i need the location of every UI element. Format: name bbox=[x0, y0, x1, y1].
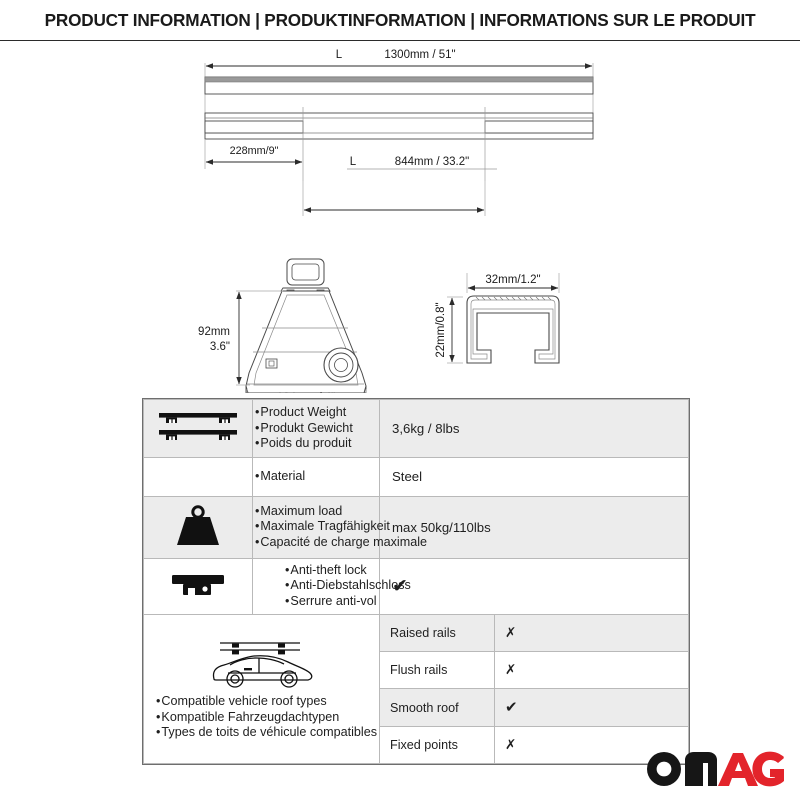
crossbar-plan-view bbox=[205, 107, 593, 181]
roof-option-mark-cell: ✗ bbox=[495, 615, 689, 652]
omac-logo-mark bbox=[644, 748, 786, 790]
roof-option-name: Raised rails bbox=[380, 615, 495, 652]
material-labels: Material bbox=[253, 458, 380, 497]
label-fr: Serrure anti-vol bbox=[285, 594, 379, 610]
span-length-value: 844mm / 33.2" bbox=[395, 156, 469, 168]
roof-option-mark: ✗ bbox=[505, 662, 516, 677]
foot-height-mm-value: 92mm bbox=[198, 326, 230, 338]
roof-option-row: Flush rails ✗ bbox=[380, 651, 688, 688]
profile-width-value: 32mm/1.2" bbox=[485, 274, 540, 286]
roof-option-row: Smooth roof ✔ bbox=[380, 689, 688, 726]
anti-theft-lock-value-cell: ✔ bbox=[380, 558, 689, 614]
label-de: Maximale Tragfähigkeit bbox=[255, 519, 379, 535]
technical-drawings: L 1300mm / 51" 228mm/9" L 844mm / 33.2" … bbox=[0, 41, 800, 393]
table-row-product-weight: Product Weight Produkt Gewicht Poids du … bbox=[144, 400, 689, 458]
roof-option-mark: ✔ bbox=[505, 699, 518, 716]
label-de: Kompatible Fahrzeugdachtypen bbox=[156, 710, 379, 726]
anti-theft-lock-checkmark: ✔ bbox=[392, 576, 408, 597]
label-fr: Capacité de charge maximale bbox=[255, 535, 379, 551]
maximum-load-labels: Maximum load Maximale Tragfähigkeit Capa… bbox=[253, 496, 380, 558]
lock-icon bbox=[166, 565, 230, 605]
profile-height-dimension bbox=[447, 297, 463, 363]
car-icon-wrap bbox=[144, 635, 379, 694]
label-de: Produkt Gewicht bbox=[255, 421, 379, 437]
material-value: Steel bbox=[392, 469, 422, 484]
page-title: PRODUCT INFORMATION | PRODUKTINFORMATION… bbox=[45, 10, 756, 31]
car-with-rack-icon bbox=[204, 635, 320, 691]
label-de: Anti-Diebstahlschloss bbox=[285, 578, 379, 594]
table-row-anti-theft-lock: Anti-theft lock Anti-Diebstahlschloss Se… bbox=[144, 558, 689, 614]
roof-option-mark: ✗ bbox=[505, 625, 516, 640]
roof-option-name: Flush rails bbox=[380, 651, 495, 688]
label-fr: Poids du produit bbox=[255, 436, 379, 452]
roof-options-table: Raised rails ✗ Flush rails ✗ bbox=[380, 615, 688, 764]
drawings-svg: L 1300mm / 51" 228mm/9" L 844mm / 33.2" … bbox=[0, 41, 800, 393]
foot-width-value: 104mm / 4" bbox=[277, 392, 335, 393]
label-en: Anti-theft lock bbox=[285, 563, 379, 579]
weight-icon-cell bbox=[144, 496, 253, 558]
page-header: PRODUCT INFORMATION | PRODUKTINFORMATION… bbox=[0, 0, 800, 41]
foot-front-view bbox=[246, 259, 366, 393]
product-weight-labels: Product Weight Produkt Gewicht Poids du … bbox=[253, 400, 380, 458]
label-fr: Types de toits de véhicule compatibles bbox=[156, 725, 379, 741]
span-dimension bbox=[303, 169, 497, 216]
table-row-maximum-load: Maximum load Maximale Tragfähigkeit Capa… bbox=[144, 496, 689, 558]
label-en: Compatible vehicle roof types bbox=[156, 694, 379, 710]
crossbar-top-view bbox=[205, 77, 593, 94]
crossbars-icon bbox=[155, 406, 241, 448]
anti-theft-lock-labels: Anti-theft lock Anti-Diebstahlschloss Se… bbox=[253, 558, 380, 614]
total-length-value: 1300mm / 51" bbox=[384, 49, 455, 61]
profile-height-value: 22mm/0.8" bbox=[435, 302, 447, 357]
roof-option-name: Fixed points bbox=[380, 726, 495, 763]
material-value-cell: Steel bbox=[380, 458, 689, 497]
product-weight-value-cell: 3,6kg / 8lbs bbox=[380, 400, 689, 458]
roof-compatibility-labels: Compatible vehicle roof types Kompatible… bbox=[144, 694, 379, 741]
specification-table: Product Weight Produkt Gewicht Poids du … bbox=[142, 398, 690, 765]
product-information-page: PRODUCT INFORMATION | PRODUKTINFORMATION… bbox=[0, 0, 800, 800]
table-row-material: Material Steel bbox=[144, 458, 689, 497]
weight-icon bbox=[170, 503, 226, 549]
label-en: Material bbox=[255, 469, 379, 485]
offset-length-value: 228mm/9" bbox=[230, 145, 279, 157]
bar-profile-cross-section bbox=[467, 296, 559, 363]
roof-option-row: Fixed points ✗ bbox=[380, 726, 688, 763]
lock-icon-cell bbox=[144, 558, 253, 614]
label-en: Maximum load bbox=[255, 504, 379, 520]
roof-options-cell: Raised rails ✗ Flush rails ✗ bbox=[380, 614, 689, 764]
span-length-prefix: L bbox=[350, 156, 357, 168]
roof-compatibility-description: Compatible vehicle roof types Kompatible… bbox=[144, 614, 380, 764]
foot-height-in-value: 3.6" bbox=[210, 341, 230, 353]
total-length-prefix: L bbox=[336, 49, 343, 61]
crossbars-icon-cell bbox=[144, 400, 253, 458]
omac-logo bbox=[644, 748, 786, 790]
material-icon-cell bbox=[144, 458, 253, 497]
label-en: Product Weight bbox=[255, 405, 379, 421]
maximum-load-value: max 50kg/110lbs bbox=[392, 520, 491, 535]
roof-option-mark: ✗ bbox=[505, 737, 516, 752]
roof-option-mark-cell: ✗ bbox=[495, 651, 689, 688]
table-row-roof-compatibility: Compatible vehicle roof types Kompatible… bbox=[144, 614, 689, 764]
roof-option-mark-cell: ✔ bbox=[495, 689, 689, 726]
product-weight-value: 3,6kg / 8lbs bbox=[392, 421, 459, 436]
roof-option-row: Raised rails ✗ bbox=[380, 615, 688, 652]
roof-option-name: Smooth roof bbox=[380, 689, 495, 726]
